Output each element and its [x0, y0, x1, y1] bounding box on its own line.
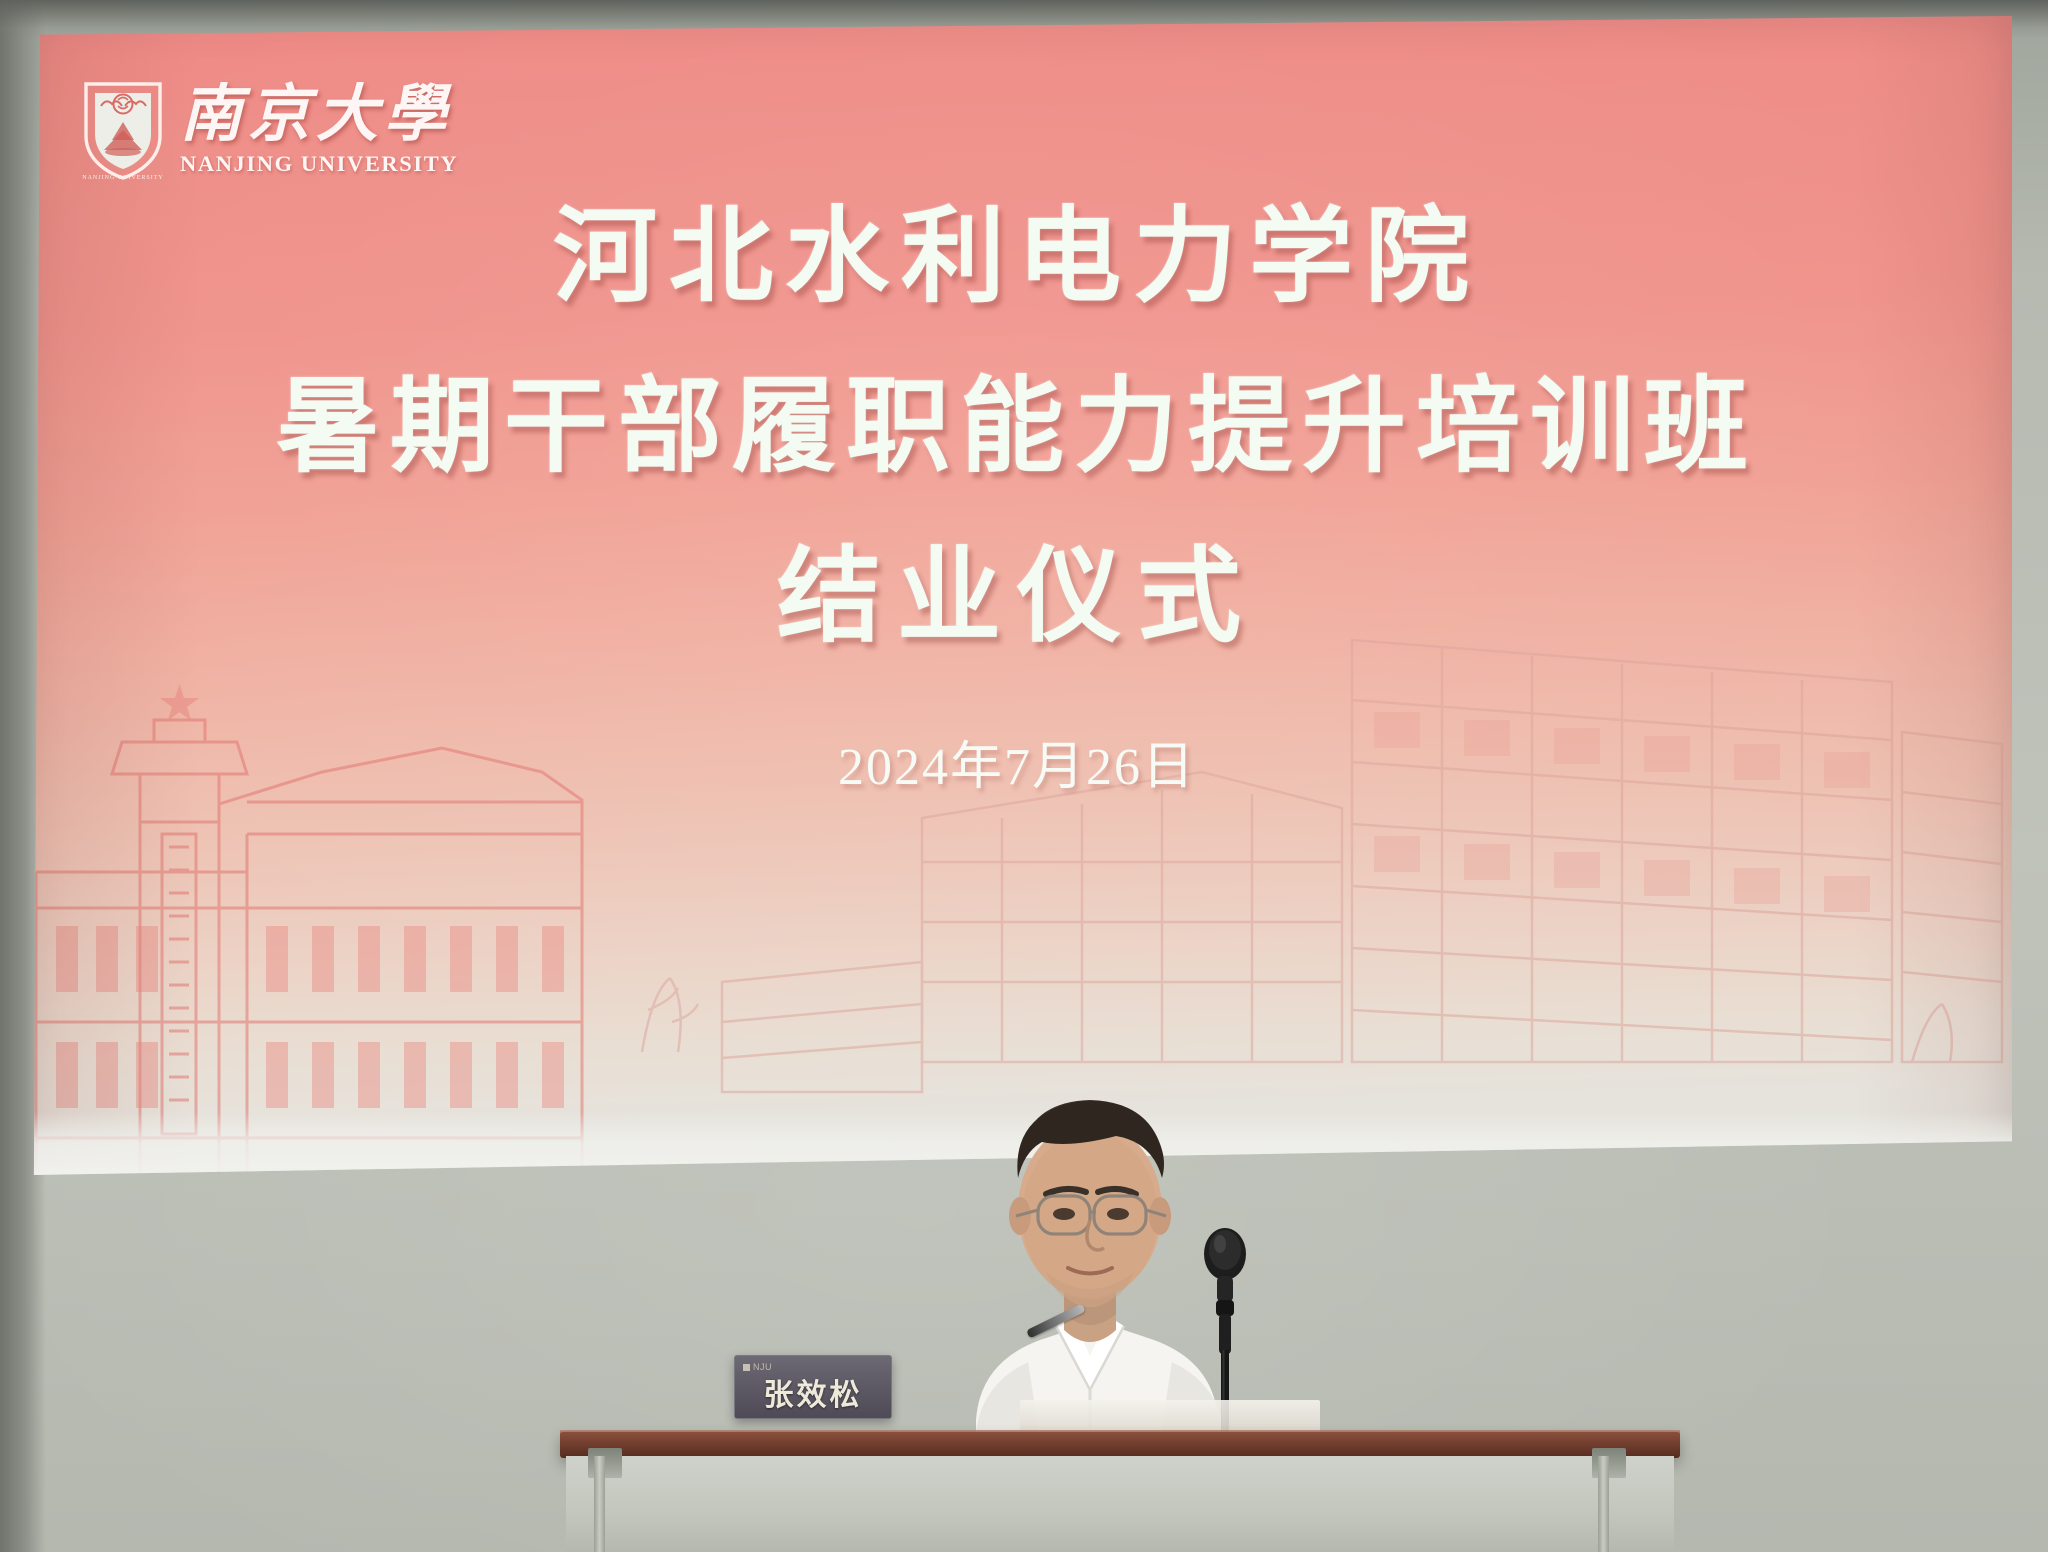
photo-stage: NANJING UNIVERSITY 南京大學 NANJING UNIVERSI…: [0, 0, 2048, 1552]
headline-line-1: 河北水利电力学院: [22, 206, 2012, 310]
nju-shield-icon: NANJING UNIVERSITY: [80, 78, 166, 182]
desk-leg-left: [594, 1456, 605, 1552]
nameplate-brand: NJU: [743, 1362, 772, 1372]
nameplate-brand-square: [743, 1364, 750, 1371]
nanjing-university-logo: NANJING UNIVERSITY 南京大學 NANJING UNIVERSI…: [80, 74, 460, 186]
nameplate-name: 张效松: [764, 1370, 863, 1414]
logo-chinese-name: 南京大學: [180, 84, 452, 146]
projected-banner: NANJING UNIVERSITY 南京大學 NANJING UNIVERSI…: [22, 16, 2012, 1182]
nameplate-brand-text: NJU: [753, 1362, 772, 1372]
paper-sheet: [1020, 1400, 1320, 1434]
svg-text:NANJING UNIVERSITY: NANJING UNIVERSITY: [82, 175, 164, 181]
desk-front-panel: [566, 1456, 1674, 1552]
logo-english-name: NANJING UNIVERSITY: [180, 151, 458, 177]
headline-line-2: 暑期干部履职能力提升培训班: [22, 376, 2012, 480]
banner-date: 2024年7月26日: [22, 724, 2012, 799]
headline-line-3: 结业仪式: [22, 546, 2012, 650]
desk-leg-right: [1598, 1456, 1609, 1552]
desk-top: [560, 1432, 1680, 1458]
nameplate: NJU 张效松: [734, 1355, 892, 1419]
